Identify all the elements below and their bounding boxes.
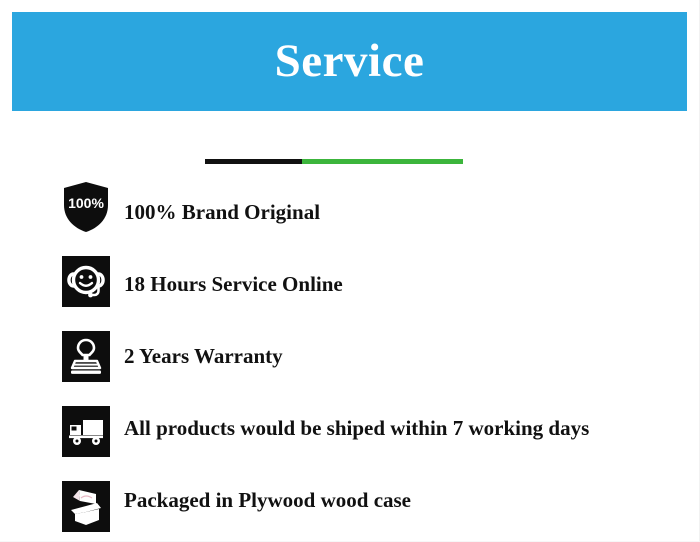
section-divider: [205, 159, 463, 164]
list-item-label: All products would be shiped within 7 wo…: [124, 418, 589, 439]
page-title: Service: [275, 38, 425, 85]
divider-dark-segment: [205, 159, 302, 164]
open-package-box-icon: [62, 481, 110, 532]
list-item-label: 2 Years Warranty: [124, 346, 283, 367]
headset-smiley-icon: [62, 256, 110, 307]
rubber-stamp-icon: [62, 331, 110, 382]
page-header-banner: Service: [12, 12, 687, 111]
service-info-page: Service 100% 100% Brand Original: [0, 0, 700, 542]
list-item-label: Packaged in Plywood wood case: [124, 490, 411, 511]
list-item: 2 Years Warranty: [0, 320, 700, 392]
service-feature-list: 100% 100% Brand Original 18 Hours Se: [0, 176, 700, 536]
divider-green-segment: [302, 159, 463, 164]
delivery-truck-icon: [62, 406, 110, 457]
list-item: All products would be shiped within 7 wo…: [0, 392, 700, 464]
svg-text:100%: 100%: [68, 195, 104, 211]
list-item-label: 100% Brand Original: [124, 202, 320, 223]
list-item: Packaged in Plywood wood case: [0, 464, 700, 536]
list-item: 18 Hours Service Online: [0, 248, 700, 320]
shield-100-percent-icon: 100%: [62, 181, 110, 232]
list-item-label: 18 Hours Service Online: [124, 274, 343, 295]
list-item: 100% 100% Brand Original: [0, 176, 700, 248]
